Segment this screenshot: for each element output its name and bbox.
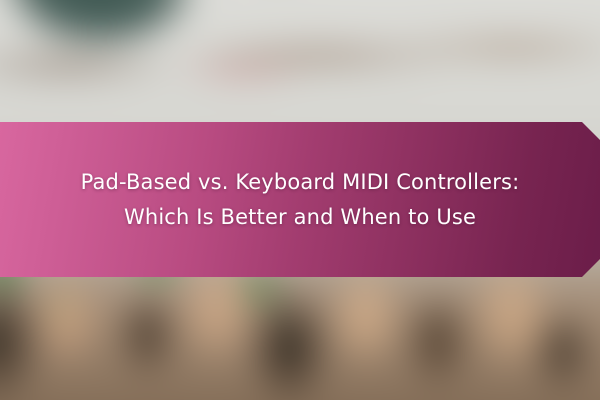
title-line-2: Which Is Better and When to Use xyxy=(124,200,476,234)
hero-image: Pad-Based vs. Keyboard MIDI Controllers:… xyxy=(0,0,600,400)
title-banner: Pad-Based vs. Keyboard MIDI Controllers:… xyxy=(0,122,600,277)
title-line-1: Pad-Based vs. Keyboard MIDI Controllers: xyxy=(81,165,520,199)
